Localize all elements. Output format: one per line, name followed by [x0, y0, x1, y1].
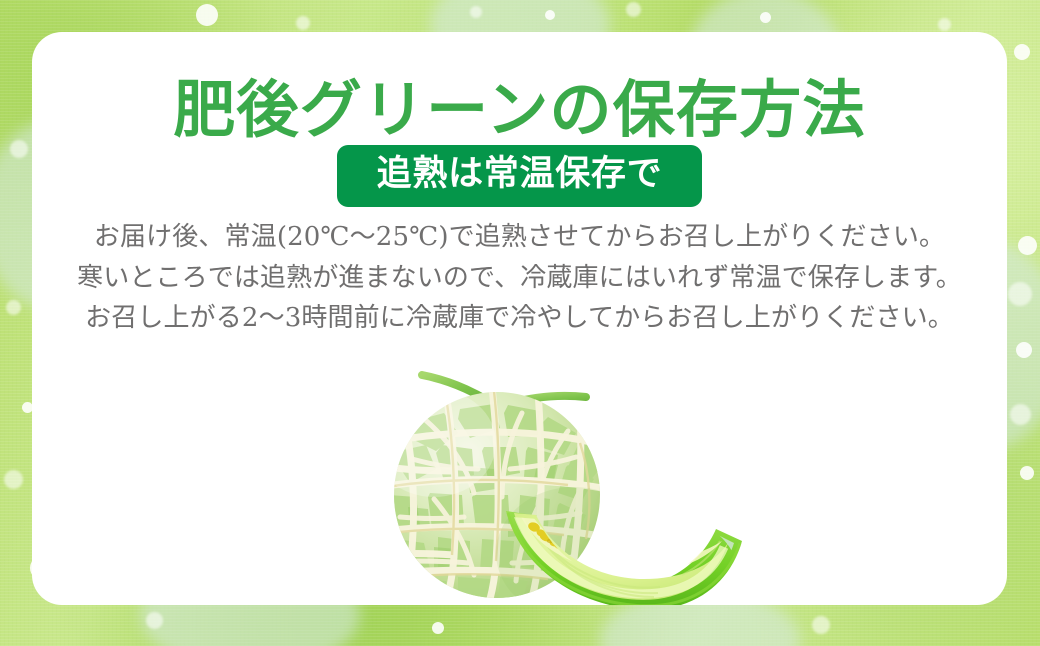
bokeh-dot [1014, 44, 1030, 60]
body-line: 寒いところでは追熟が進まないので、冷蔵庫にはいれず常温で保存します。 [32, 258, 1007, 299]
bokeh-dot [296, 16, 310, 30]
bokeh-dot [626, 2, 641, 17]
bokeh-dot [6, 300, 21, 315]
body-line: お届け後、常温(20℃〜25℃)で追熟させてからお召し上がりください。 [32, 217, 1007, 258]
bokeh-dot [1018, 236, 1037, 255]
bokeh-dot [10, 140, 28, 158]
badge-container: 追熟は常温保存で [32, 145, 1007, 207]
bokeh-dot [812, 616, 830, 634]
poster-root: 肥後グリーンの保存方法 追熟は常温保存で お届け後、常温(20℃〜25℃)で追熟… [0, 0, 1040, 646]
body-line: お召し上がる2〜3時間前に冷蔵庫で冷やしてからお召し上がりください。 [32, 298, 1007, 339]
melon-whole [372, 387, 654, 605]
bokeh-dot [1008, 282, 1032, 306]
bokeh-dot [938, 18, 951, 31]
bokeh-dot [196, 4, 218, 26]
page-title: 肥後グリーンの保存方法 [32, 78, 1007, 142]
bokeh-dot [545, 10, 555, 20]
status-badge: 追熟は常温保存で [337, 145, 703, 207]
body-copy: お届け後、常温(20℃〜25℃)で追熟させてからお召し上がりください。 寒いとこ… [32, 217, 1007, 339]
bokeh-dot [1016, 342, 1032, 358]
content-card: 肥後グリーンの保存方法 追熟は常温保存で お届け後、常温(20℃〜25℃)で追熟… [32, 32, 1007, 605]
bokeh-dot [1020, 466, 1034, 480]
bokeh-dot [760, 12, 771, 23]
melon-illustration [342, 347, 762, 605]
bokeh-dot [146, 612, 163, 629]
bokeh-dot [470, 6, 482, 18]
bokeh-dot [432, 622, 444, 634]
bokeh-dot [4, 470, 23, 489]
bokeh-dot [1010, 404, 1031, 425]
